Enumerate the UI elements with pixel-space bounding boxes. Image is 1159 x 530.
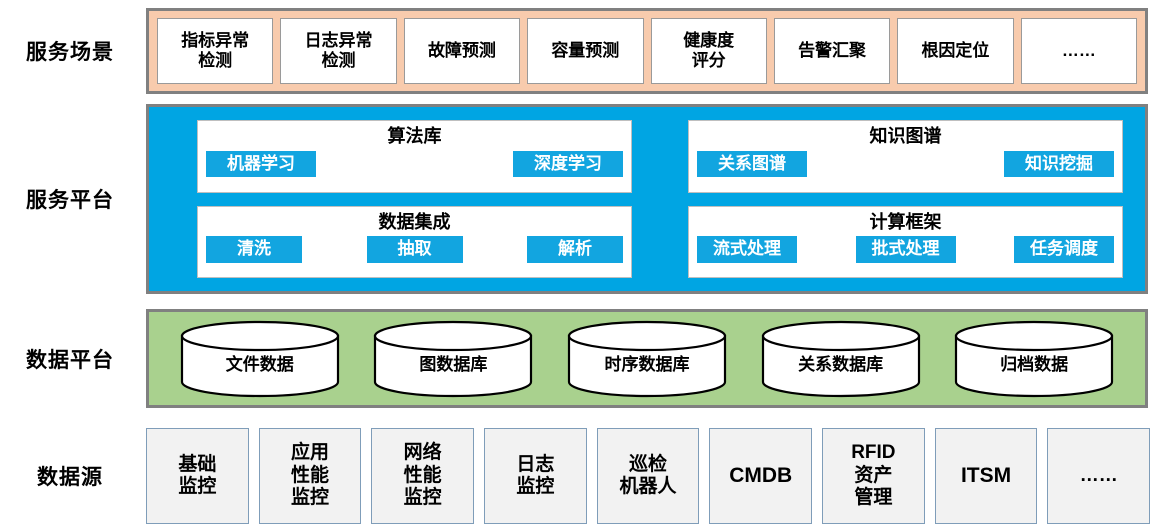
data-store-label: 归档数据 xyxy=(953,320,1115,398)
platform-card-algorithm-library[interactable]: 算法库 机器学习 深度学习 xyxy=(197,120,632,193)
band-data-platform: 文件数据 图数据库 时序数据库 xyxy=(146,309,1148,408)
data-source-box-rfid[interactable]: RFID 资产 管理 xyxy=(822,428,925,524)
scene-box[interactable]: 容量预测 xyxy=(527,18,643,84)
data-source-box[interactable]: 巡检 机器人 xyxy=(597,428,700,524)
chip-deep-learning[interactable]: 深度学习 xyxy=(513,151,623,178)
service-scene-box-list: 指标异常 检测 日志异常 检测 故障预测 容量预测 健康度 评分 告警汇聚 根因… xyxy=(149,11,1145,91)
row-label-data-source: 数据源 xyxy=(0,428,140,524)
chip-relation-graph[interactable]: 关系图谱 xyxy=(697,151,807,178)
data-source-box-cmdb[interactable]: CMDB xyxy=(709,428,812,524)
chip-batch-processing[interactable]: 批式处理 xyxy=(856,236,956,263)
data-store-cylinder[interactable]: 时序数据库 xyxy=(566,320,728,398)
data-source-box[interactable]: 应用 性能 监控 xyxy=(259,428,362,524)
data-source-list: 基础 监控 应用 性能 监控 网络 性能 监控 日志 监控 巡检 机器人 CMD… xyxy=(146,428,1150,524)
data-store-label: 关系数据库 xyxy=(760,320,922,398)
data-source-box[interactable]: 日志 监控 xyxy=(484,428,587,524)
platform-card-grid: 算法库 机器学习 深度学习 知识图谱 关系图谱 知识挖掘 数据集成 清洗 xyxy=(149,107,1145,291)
band-service-scene: 指标异常 检测 日志异常 检测 故障预测 容量预测 健康度 评分 告警汇聚 根因… xyxy=(146,8,1148,94)
scene-box-ellipsis[interactable]: …… xyxy=(1021,18,1137,84)
data-store-cylinder[interactable]: 文件数据 xyxy=(179,320,341,398)
chip-row: 清洗 抽取 解析 xyxy=(206,236,623,263)
data-store-list: 文件数据 图数据库 时序数据库 xyxy=(149,312,1145,405)
scene-box[interactable]: 根因定位 xyxy=(897,18,1013,84)
data-store-cylinder[interactable]: 图数据库 xyxy=(372,320,534,398)
scene-box[interactable]: 故障预测 xyxy=(404,18,520,84)
data-store-label: 文件数据 xyxy=(179,320,341,398)
row-label-data-platform: 数据平台 xyxy=(0,309,140,408)
scene-box[interactable]: 告警汇聚 xyxy=(774,18,890,84)
data-store-label: 时序数据库 xyxy=(566,320,728,398)
row-label-service-scene: 服务场景 xyxy=(0,8,140,94)
data-store-cylinder[interactable]: 关系数据库 xyxy=(760,320,922,398)
data-store-cylinder[interactable]: 归档数据 xyxy=(953,320,1115,398)
architecture-diagram: 服务场景 指标异常 检测 日志异常 检测 故障预测 容量预测 健康度 评分 告警… xyxy=(0,0,1159,530)
platform-card-title: 知识图谱 xyxy=(870,126,942,147)
chip-knowledge-mining[interactable]: 知识挖掘 xyxy=(1004,151,1114,178)
data-store-label: 图数据库 xyxy=(372,320,534,398)
platform-card-title: 算法库 xyxy=(388,126,442,147)
chip-stream-processing[interactable]: 流式处理 xyxy=(697,236,797,263)
chip-machine-learning[interactable]: 机器学习 xyxy=(206,151,316,178)
platform-card-data-integration[interactable]: 数据集成 清洗 抽取 解析 xyxy=(197,206,632,279)
scene-box[interactable]: 日志异常 检测 xyxy=(280,18,396,84)
scene-box[interactable]: 指标异常 检测 xyxy=(157,18,273,84)
chip-task-scheduling[interactable]: 任务调度 xyxy=(1014,236,1114,263)
chip-row: 机器学习 深度学习 xyxy=(206,151,623,178)
platform-card-knowledge-graph[interactable]: 知识图谱 关系图谱 知识挖掘 xyxy=(688,120,1123,193)
data-source-box-ellipsis[interactable]: …… xyxy=(1047,428,1150,524)
chip-cleansing[interactable]: 清洗 xyxy=(206,236,302,263)
scene-box[interactable]: 健康度 评分 xyxy=(651,18,767,84)
chip-extraction[interactable]: 抽取 xyxy=(367,236,463,263)
chip-row: 流式处理 批式处理 任务调度 xyxy=(697,236,1114,263)
chip-row: 关系图谱 知识挖掘 xyxy=(697,151,1114,178)
platform-card-title: 计算框架 xyxy=(870,212,942,233)
chip-parsing[interactable]: 解析 xyxy=(527,236,623,263)
row-label-service-platform: 服务平台 xyxy=(0,104,140,294)
platform-card-title: 数据集成 xyxy=(379,212,451,233)
data-source-box[interactable]: 基础 监控 xyxy=(146,428,249,524)
data-source-box[interactable]: 网络 性能 监控 xyxy=(371,428,474,524)
platform-card-compute-framework[interactable]: 计算框架 流式处理 批式处理 任务调度 xyxy=(688,206,1123,279)
data-source-box-itsm[interactable]: ITSM xyxy=(935,428,1038,524)
band-service-platform: 算法库 机器学习 深度学习 知识图谱 关系图谱 知识挖掘 数据集成 清洗 xyxy=(146,104,1148,294)
